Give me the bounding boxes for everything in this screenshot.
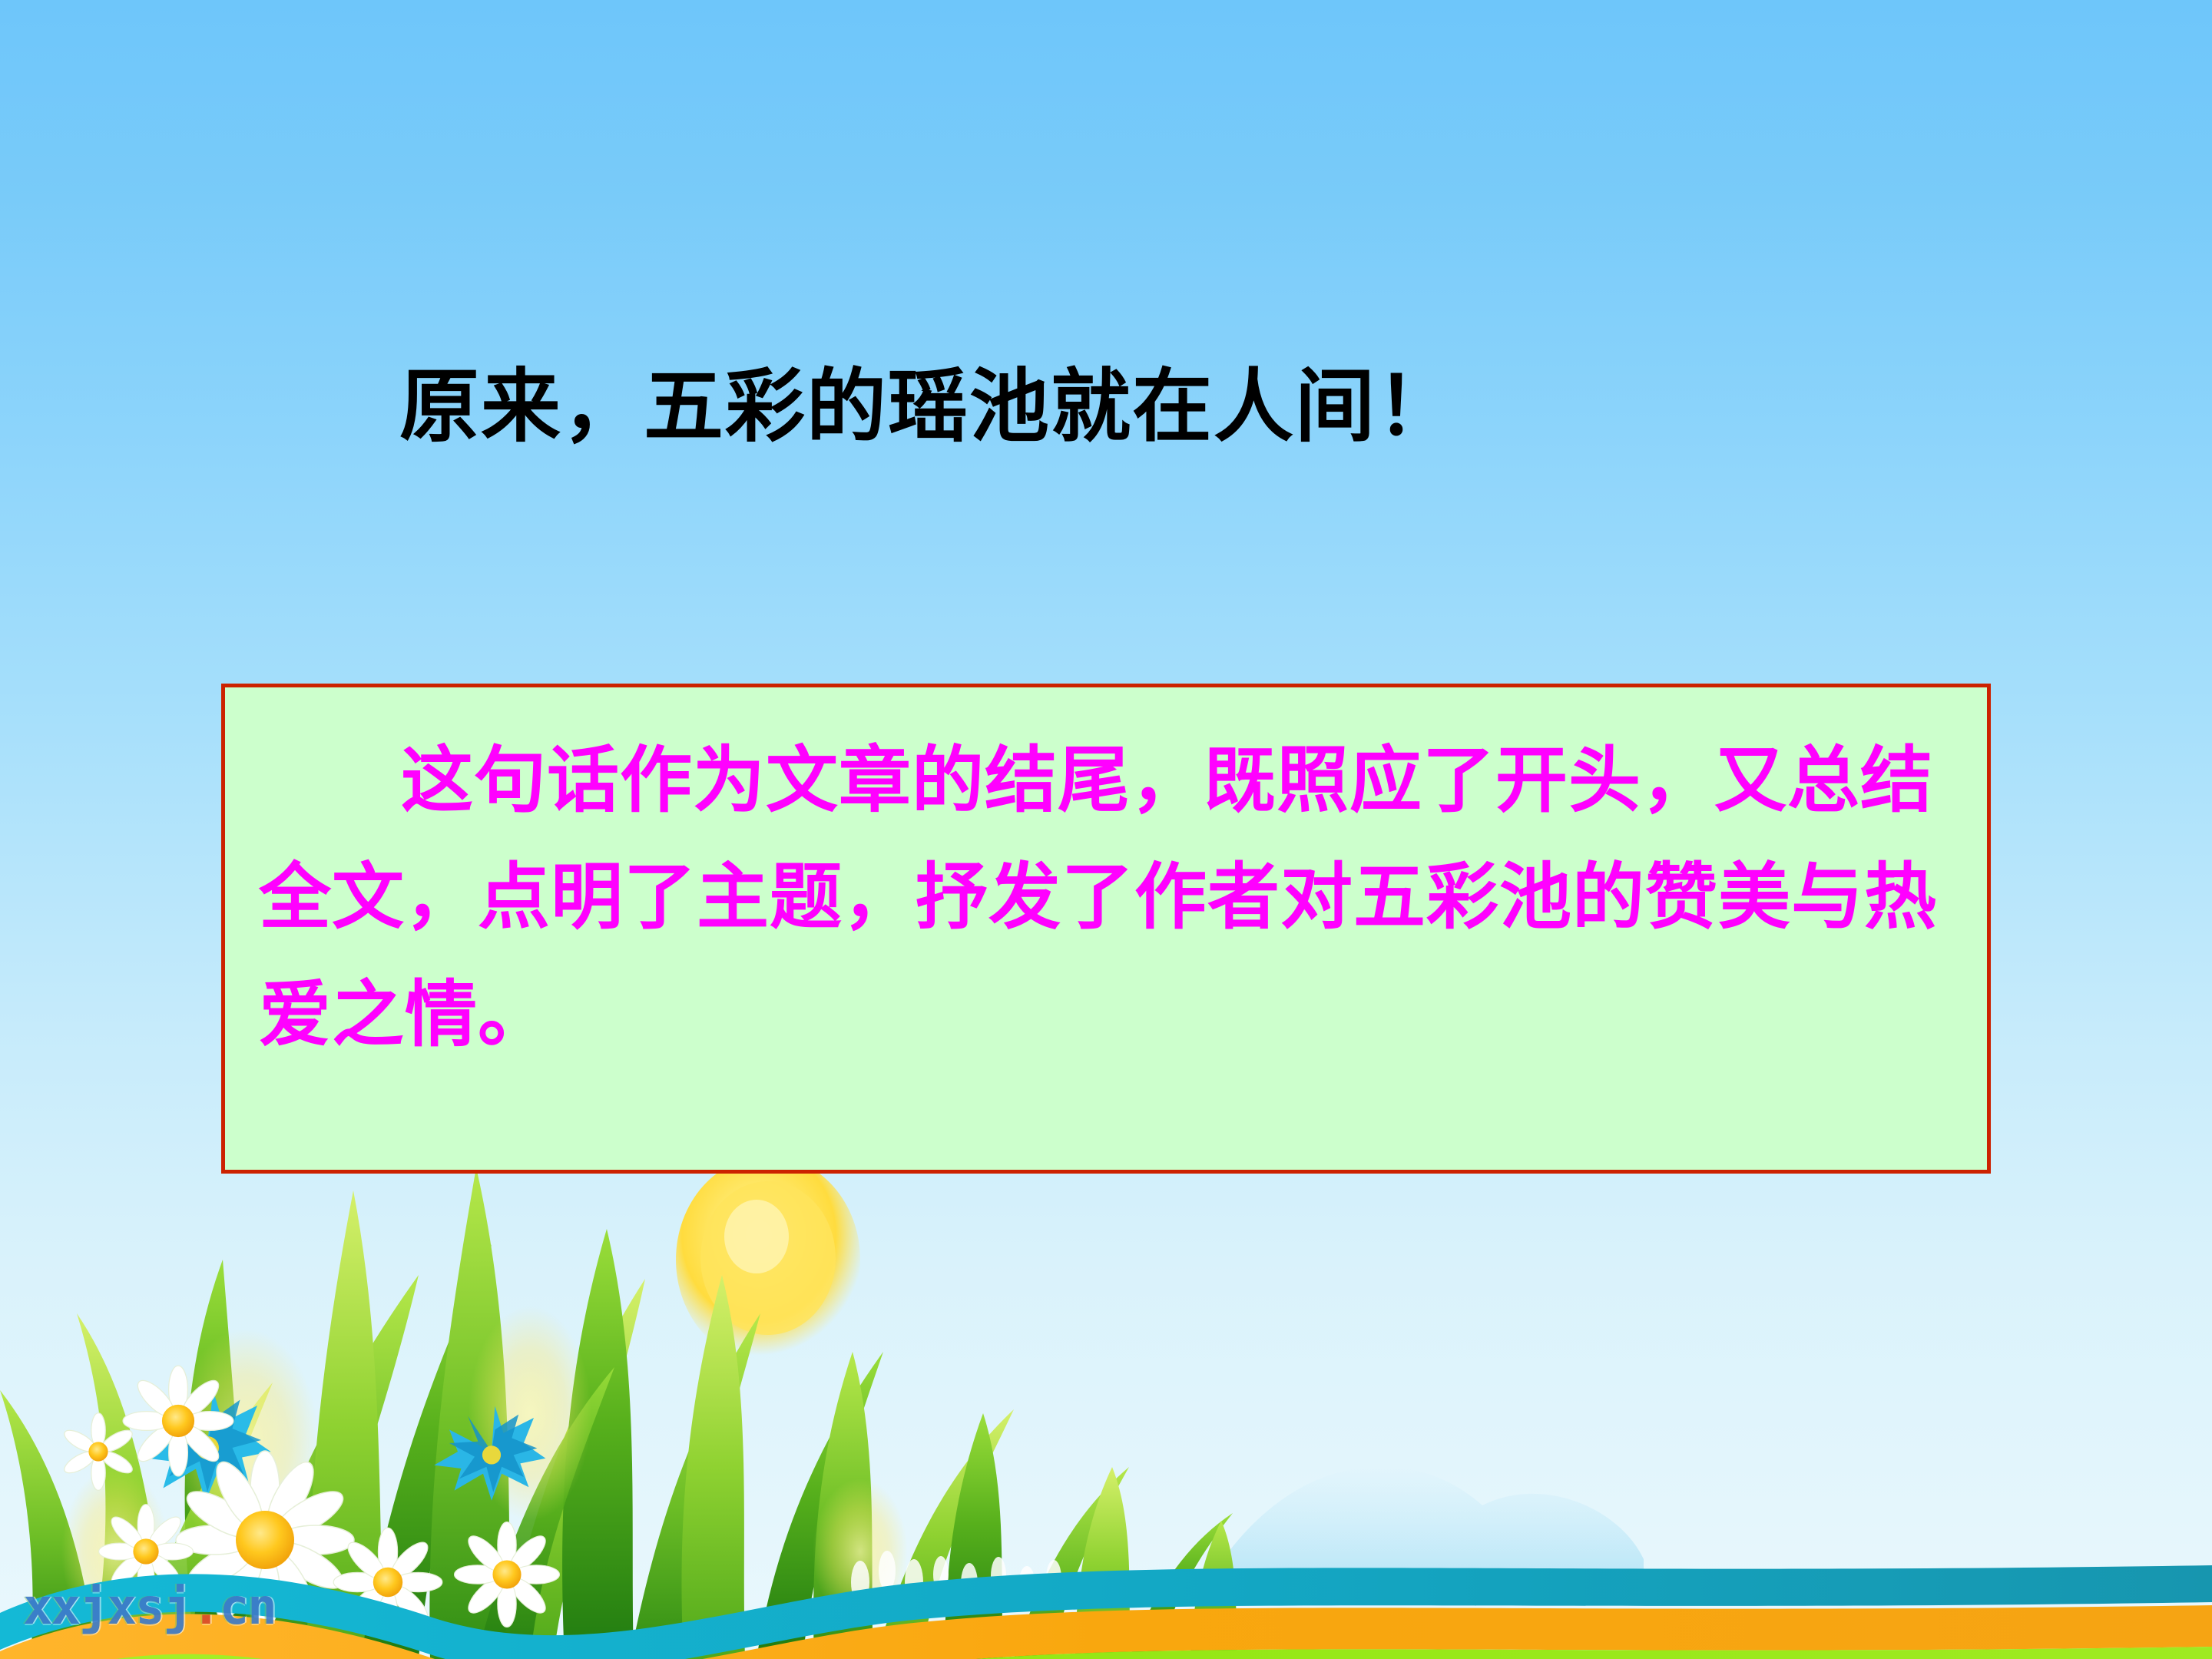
slide-canvas: 原来，五彩的瑶池就在人间！ 这句话作为文章的结尾，既照应了开头，又总结全文，点明… (0, 0, 2212, 1659)
content-paragraph: 这句话作为文章的结尾，既照应了开头，又总结全文，点明了主题，抒发了作者对五彩池的… (259, 723, 1961, 1074)
watermark-dot: . (191, 1579, 220, 1636)
content-line-1: 这句话作为文章的结尾，既照应了开头， (401, 741, 1714, 821)
content-box: 这句话作为文章的结尾，既照应了开头，又总结全文，点明了主题，抒发了作者对五彩池的… (221, 684, 1991, 1174)
slide-title: 原来，五彩的瑶池就在人间！ (399, 361, 1628, 455)
bottom-decoration (0, 1121, 2212, 1659)
wave-ribbon (0, 1565, 2212, 1659)
site-watermark: xxjxsj.cn (23, 1579, 276, 1636)
blue-cornflowers (141, 1390, 1101, 1659)
watermark-name: xxjxsj (23, 1579, 191, 1636)
sun-icon (676, 1156, 860, 1363)
blue-haze (1229, 1466, 1644, 1598)
watermark-tld: cn (220, 1579, 276, 1636)
